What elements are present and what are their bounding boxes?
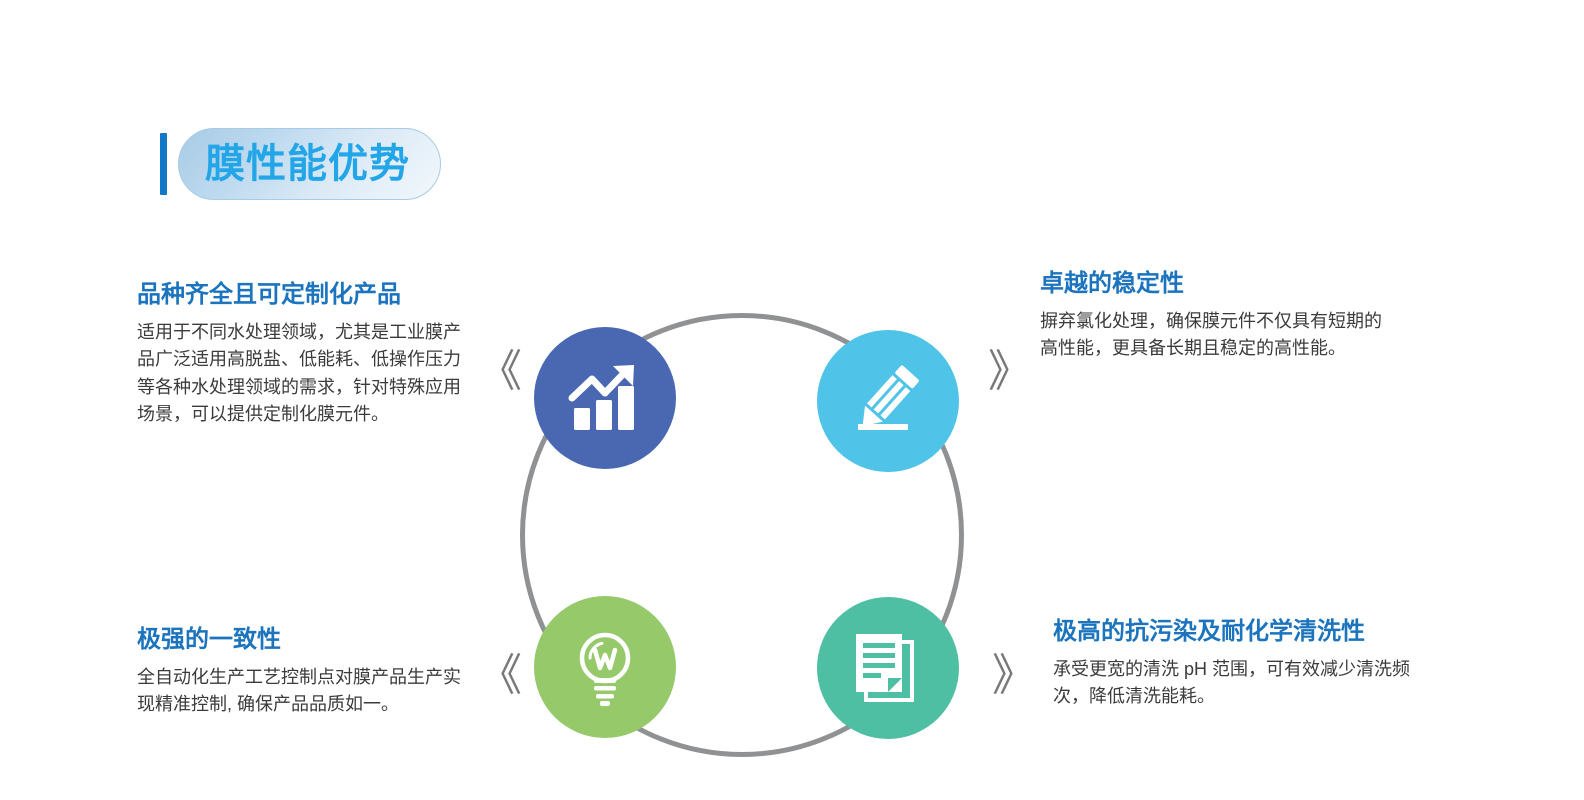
feature-body: 适用于不同水处理领域，尤其是工业膜产品广泛适用高脱盐、低能耗、低操作压力等各种水…: [137, 319, 472, 428]
documents-icon: [852, 630, 924, 706]
pencil-icon: [849, 362, 927, 440]
feature-body: 承受更宽的清洗 pH 范围，可有效减少清洗频次，降低清洗能耗。: [1053, 656, 1413, 711]
feature-body: 全自动化生产工艺控制点对膜产品生产实现精准控制, 确保产品品质如一。: [137, 664, 472, 719]
title-label: 膜性能优势: [205, 144, 410, 184]
infographic-canvas: 膜性能优势: [0, 0, 1584, 800]
chevron-right-top: 》: [988, 350, 1032, 394]
page-title: 膜性能优势: [160, 128, 441, 200]
title-pill: 膜性能优势: [178, 128, 441, 200]
chevron-left-bottom: 《: [478, 654, 522, 698]
feature-heading: 极高的抗污染及耐化学清洗性: [1053, 618, 1413, 647]
growth-chart-icon: [568, 362, 642, 434]
node-top-left[interactable]: [534, 327, 676, 469]
title-accent-bar: [160, 133, 167, 195]
node-bottom-right[interactable]: [817, 597, 959, 739]
feature-block-top-left: 品种齐全且可定制化产品 适用于不同水处理领域，尤其是工业膜产品广泛适用高脱盐、低…: [137, 281, 472, 428]
node-top-right[interactable]: [817, 330, 959, 472]
chevron-left-top: 《: [478, 350, 522, 394]
feature-block-bottom-right: 极高的抗污染及耐化学清洗性 承受更宽的清洗 pH 范围，可有效减少清洗频次，降低…: [1053, 618, 1413, 711]
lightbulb-icon: [570, 628, 640, 706]
feature-heading: 卓越的稳定性: [1040, 270, 1390, 299]
feature-block-bottom-left: 极强的一致性 全自动化生产工艺控制点对膜产品生产实现精准控制, 确保产品品质如一…: [137, 626, 472, 719]
feature-heading: 品种齐全且可定制化产品: [137, 281, 472, 310]
chevron-right-bottom: 》: [992, 654, 1036, 698]
feature-heading: 极强的一致性: [137, 626, 472, 655]
node-bottom-left[interactable]: [534, 596, 676, 738]
feature-block-top-right: 卓越的稳定性 摒弃氯化处理，确保膜元件不仅具有短期的高性能，更具备长期且稳定的高…: [1040, 270, 1390, 363]
feature-body: 摒弃氯化处理，确保膜元件不仅具有短期的高性能，更具备长期且稳定的高性能。: [1040, 308, 1390, 363]
